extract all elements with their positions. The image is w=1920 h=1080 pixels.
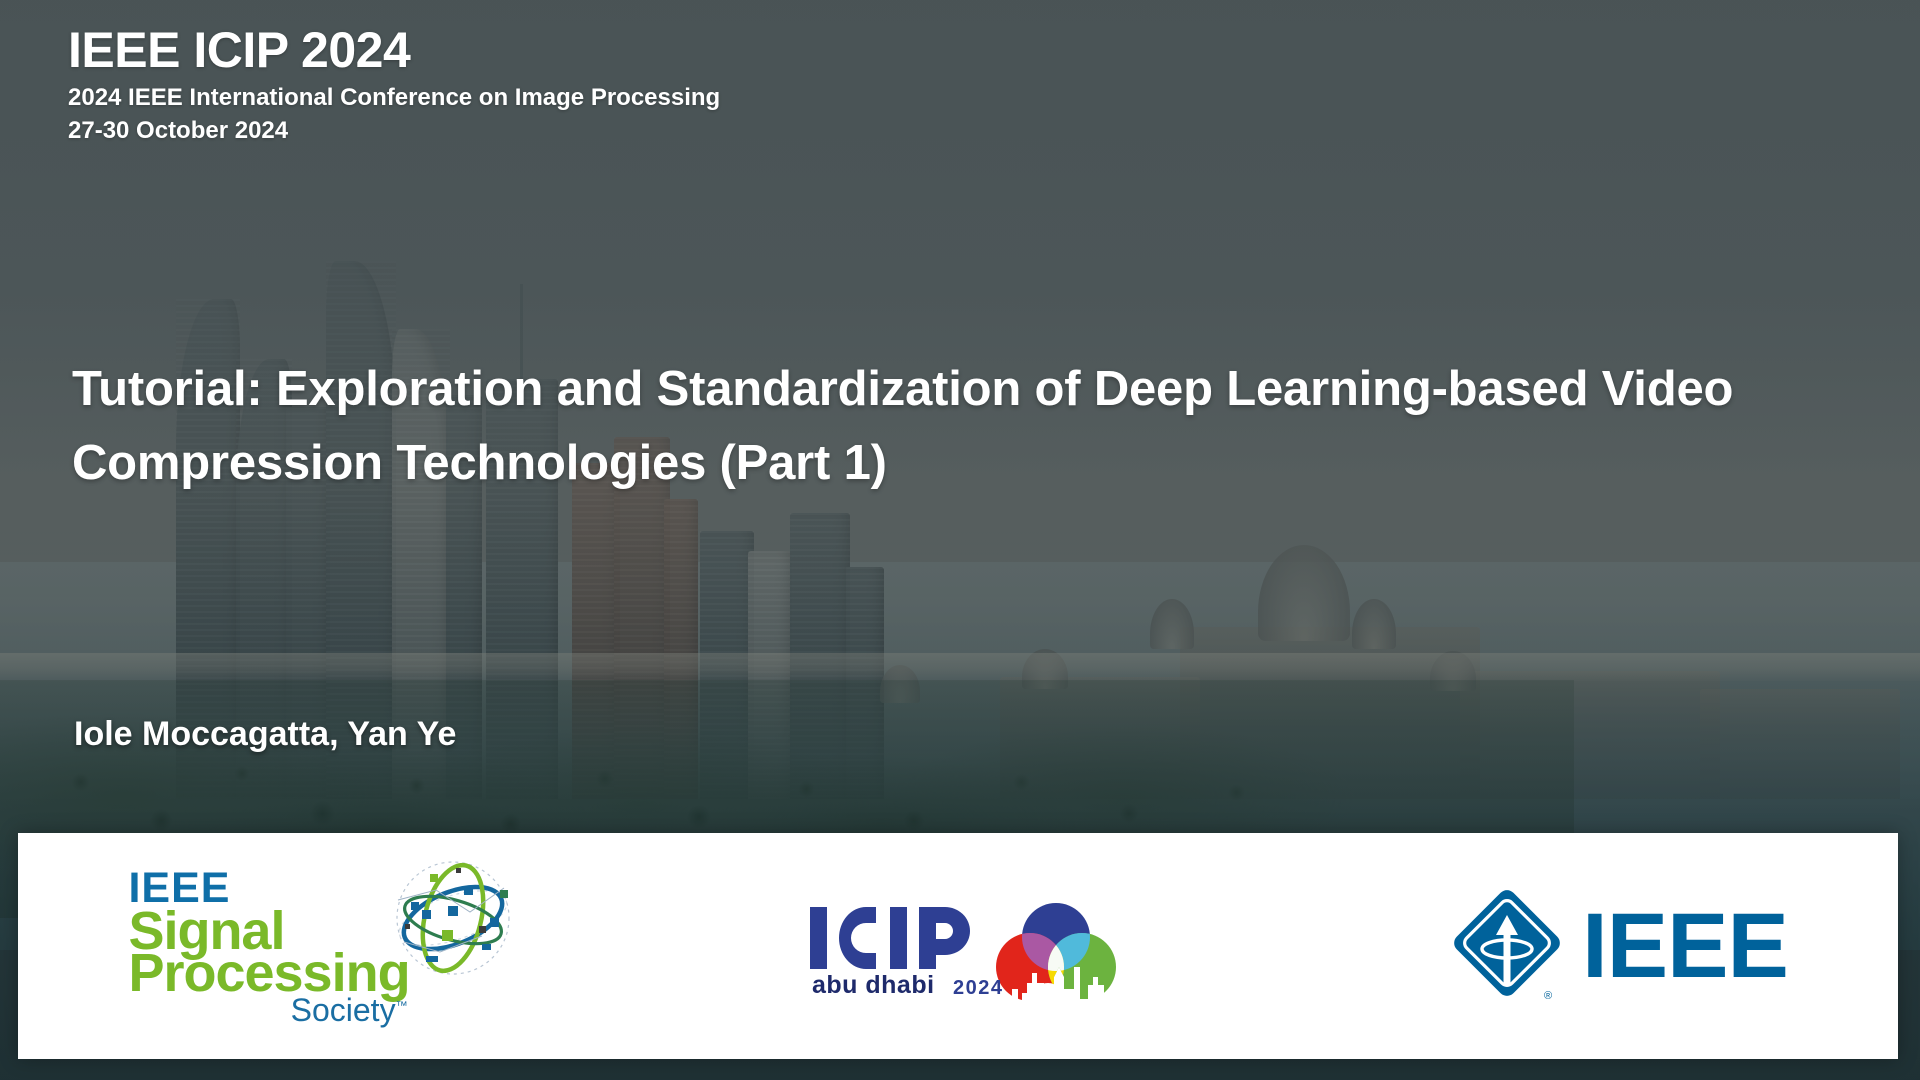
ieee-wordmark: IEEE <box>1582 900 1788 992</box>
ieee-registered-mark: ® <box>1544 990 1552 1002</box>
slide-root: IEEE ICIP 2024 2024 IEEE International C… <box>0 0 1920 1080</box>
icip-wordmark-glyphs <box>810 907 970 969</box>
conference-name: IEEE ICIP 2024 <box>68 24 720 77</box>
sponsor-logo-bar: IEEE Signal Processing Society™ <box>18 833 1898 1059</box>
conference-dates: 27-30 October 2024 <box>68 116 720 147</box>
sps-wordmark: IEEE Signal Processing Society™ <box>128 867 409 1026</box>
ieee-signal-processing-society-logo: IEEE Signal Processing Society™ <box>128 867 527 1026</box>
conference-subtitle: 2024 IEEE International Conference on Im… <box>68 83 720 114</box>
authors-line: Iole Moccagatta, Yan Ye <box>74 715 456 754</box>
conference-header: IEEE ICIP 2024 2024 IEEE International C… <box>68 24 720 146</box>
icip-year-text: 2024 <box>953 977 1004 999</box>
ieee-diamond-icon: ® <box>1448 887 1566 1005</box>
ieee-master-brand-logo: ® IEEE <box>1448 887 1788 1005</box>
page-title: Tutorial: Exploration and Standardizatio… <box>72 352 1862 501</box>
logo-slot-signal-processing-society: IEEE Signal Processing Society™ <box>18 867 608 1026</box>
icip-abu-dhabi-2024-logo: abu dhabi 2024 <box>808 881 1138 1011</box>
icip-location-text: abu dhabi <box>812 971 935 999</box>
sps-network-globe-icon <box>378 846 528 1001</box>
logo-slot-ieee: ® IEEE <box>1338 887 1898 1005</box>
logo-slot-icip: abu dhabi 2024 <box>608 881 1338 1011</box>
